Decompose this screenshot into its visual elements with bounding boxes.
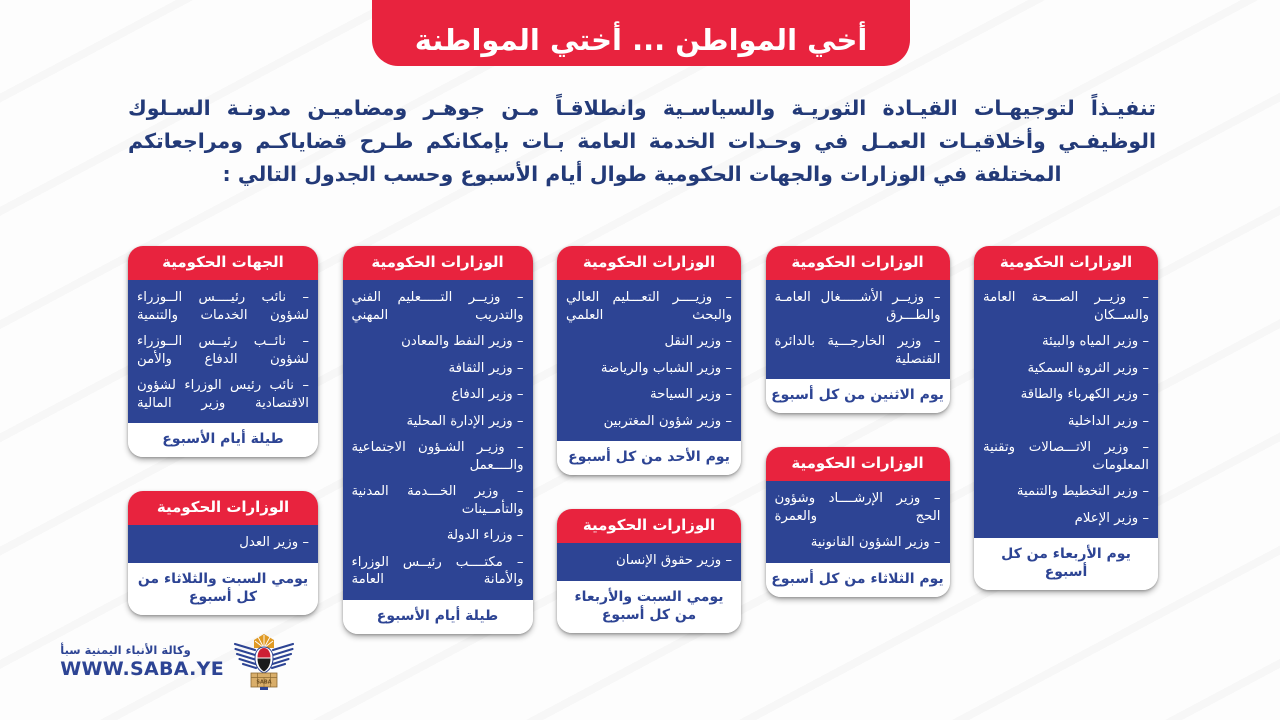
column-1: الوزارات الحكومية– وزيــر الصـــحة العام…: [974, 246, 1158, 590]
saba-footer-logo: SABA وكالة الأنباء اليمنية سبأ WWW.SABA.…: [110, 625, 295, 697]
card-schedule-footer: طيلة أيام الأسبوع: [343, 600, 533, 634]
agency-website: WWW.SABA.YE: [60, 658, 224, 680]
ministry-item: – وزير السياحة: [566, 386, 732, 404]
ministry-item: – وزيــر الصـــحة العامة والســكان: [983, 289, 1149, 324]
schedule-card: الوزارات الحكومية– وزير العدليومي السبت …: [128, 491, 318, 615]
intro-paragraph: تنفيـذاً لتوجيهـات القيـادة الثوريـة وال…: [128, 92, 1156, 191]
ministry-item: – وزيــــر التعـــليم العالي والبحث العل…: [566, 289, 732, 324]
infographic-page: أخي المواطن ... أختي المواطنة تنفيـذاً ل…: [0, 0, 1280, 720]
title-badge: أخي المواطن ... أختي المواطنة: [372, 0, 910, 66]
ministry-item: – وزير المياه والبيئة: [983, 333, 1149, 351]
intro-line-3: المختلفة في الوزارات والجهات الحكومية طو…: [128, 158, 1156, 191]
ministry-item: – مكتــــب رئيــس الوزراء والأمانة العام…: [352, 554, 524, 589]
ministry-item: – وزير الكهرباء والطاقة: [983, 386, 1149, 404]
ministry-item: – وزير الثروة السمكية: [983, 360, 1149, 378]
column-5: الجهات الحكومية– نائب رئيــــس الــوزراء…: [128, 246, 318, 615]
schedule-columns: الوزارات الحكومية– وزيــر الصـــحة العام…: [128, 246, 1158, 666]
card-header: الوزارات الحكومية: [128, 491, 318, 525]
card-body: – وزير حقوق الإنسان: [557, 543, 741, 581]
card-schedule-footer: طيلة أيام الأسبوع: [128, 423, 318, 457]
ministry-item: – نائب رئيــــس الــوزراء لشؤون الخدمات …: [137, 289, 309, 324]
ministry-item: – وزير الإرشــــاد وشؤون الحج والعمرة: [775, 490, 941, 525]
card-header: الوزارات الحكومية: [766, 246, 950, 280]
card-header: الوزارات الحكومية: [766, 447, 950, 481]
card-schedule-footer: يوم الأحد من كل أسبوع: [557, 441, 741, 475]
ministry-item: – وزير النفط والمعادن: [352, 333, 524, 351]
card-header: الوزارات الحكومية: [974, 246, 1158, 280]
ministry-item: – وزير الإعلام: [983, 510, 1149, 528]
ministry-item: – وزير حقوق الإنسان: [566, 552, 732, 570]
card-schedule-footer: يوم الأربعاء من كل أسبوع: [974, 538, 1158, 590]
ministry-item: – وزير العدل: [137, 534, 309, 552]
card-schedule-footer: يوم الثلاثاء من كل أسبوع: [766, 563, 950, 597]
card-body: – وزيــر التـــــعليم الفني والتدريب الم…: [343, 280, 533, 600]
card-header: الوزارات الحكومية: [343, 246, 533, 280]
saba-eagle-emblem-icon: SABA: [233, 628, 295, 694]
card-schedule-footer: يومي السبت والأربعاء من كل أسبوع: [557, 581, 741, 633]
ministry-item: – وزير الإدارة المحلية: [352, 413, 524, 431]
ministry-item: – نائب رئيس الوزراء لشؤون الاقتصادية وزي…: [137, 377, 309, 412]
ministry-item: – وزيــر التـــــعليم الفني والتدريب الم…: [352, 289, 524, 324]
ministry-item: – وزير الثقافة: [352, 360, 524, 378]
card-header: الوزارات الحكومية: [557, 246, 741, 280]
card-body: – وزير العدل: [128, 525, 318, 563]
svg-text:SABA: SABA: [256, 680, 271, 686]
card-body: – وزير الإرشــــاد وشؤون الحج والعمرة– و…: [766, 481, 950, 563]
ministry-item: – وزيــر الأشـــــغال العامـة والطـــرق: [775, 289, 941, 324]
card-body: – وزيــــر التعـــليم العالي والبحث العل…: [557, 280, 741, 441]
card-body: – وزيــر الصـــحة العامة والســكان– وزير…: [974, 280, 1158, 538]
card-header: الجهات الحكومية: [128, 246, 318, 280]
schedule-card: الوزارات الحكومية– وزيــــر التعـــليم ا…: [557, 246, 741, 475]
card-body: – وزيــر الأشـــــغال العامـة والطـــرق–…: [766, 280, 950, 379]
intro-line-2: الوظيفـي وأخلاقيـات العمـل في وحـدات الخ…: [128, 125, 1156, 158]
agency-name-arabic: وكالة الأنباء اليمنية سبأ: [60, 643, 191, 657]
column-2: الوزارات الحكومية– وزيــر الأشـــــغال ا…: [766, 246, 950, 597]
ministry-item: – وزير التخطيط والتنمية: [983, 483, 1149, 501]
column-3: الوزارات الحكومية– وزيــــر التعـــليم ا…: [557, 246, 741, 633]
schedule-card: الوزارات الحكومية– وزيــر الصـــحة العام…: [974, 246, 1158, 590]
schedule-card: الوزارات الحكومية– وزير حقوق الإنسانيومي…: [557, 509, 741, 633]
ministry-item: – وزراء الدولة: [352, 527, 524, 545]
card-schedule-footer: يومي السبت والثلاثاء من كل أسبوع: [128, 563, 318, 615]
ministry-item: – وزير الدفاع: [352, 386, 524, 404]
ministry-item: – وزير شؤون المغتربين: [566, 413, 732, 431]
card-header: الوزارات الحكومية: [557, 509, 741, 543]
ministry-item: – نائــب رئيــس الــوزراء لشؤون الدفاع و…: [137, 333, 309, 368]
ministry-item: – وزير الشباب والرياضة: [566, 360, 732, 378]
schedule-card: الوزارات الحكومية– وزيــر التـــــعليم ا…: [343, 246, 533, 634]
schedule-card: الوزارات الحكومية– وزيــر الأشـــــغال ا…: [766, 246, 950, 413]
ministry-item: – وزير الخارجـــية بالدائرة القنصلية: [775, 333, 941, 368]
intro-line-1: تنفيـذاً لتوجيهـات القيـادة الثوريـة وال…: [128, 92, 1156, 125]
column-4: الوزارات الحكومية– وزيــر التـــــعليم ا…: [343, 246, 533, 634]
schedule-card: الوزارات الحكومية– وزير الإرشــــاد وشؤو…: [766, 447, 950, 597]
ministry-item: – وزيـر الشـؤون الاجتماعية والــــعمل: [352, 439, 524, 474]
ministry-item: – وزير الداخلية: [983, 413, 1149, 431]
ministry-item: – وزير الاتـــصالات وتقنية المعلومات: [983, 439, 1149, 474]
ministry-item: – وزير النقل: [566, 333, 732, 351]
page-title: أخي المواطن ... أختي المواطنة: [415, 23, 868, 57]
schedule-card: الجهات الحكومية– نائب رئيــــس الــوزراء…: [128, 246, 318, 457]
card-schedule-footer: يوم الاثنين من كل أسبوع: [766, 379, 950, 413]
card-body: – نائب رئيــــس الــوزراء لشؤون الخدمات …: [128, 280, 318, 423]
ministry-item: – وزير الشؤون القانونية: [775, 534, 941, 552]
saba-brand-text: وكالة الأنباء اليمنية سبأ WWW.SABA.YE: [60, 643, 224, 680]
ministry-item: – وزير الخـــدمة المدنية والتأمــينات: [352, 483, 524, 518]
